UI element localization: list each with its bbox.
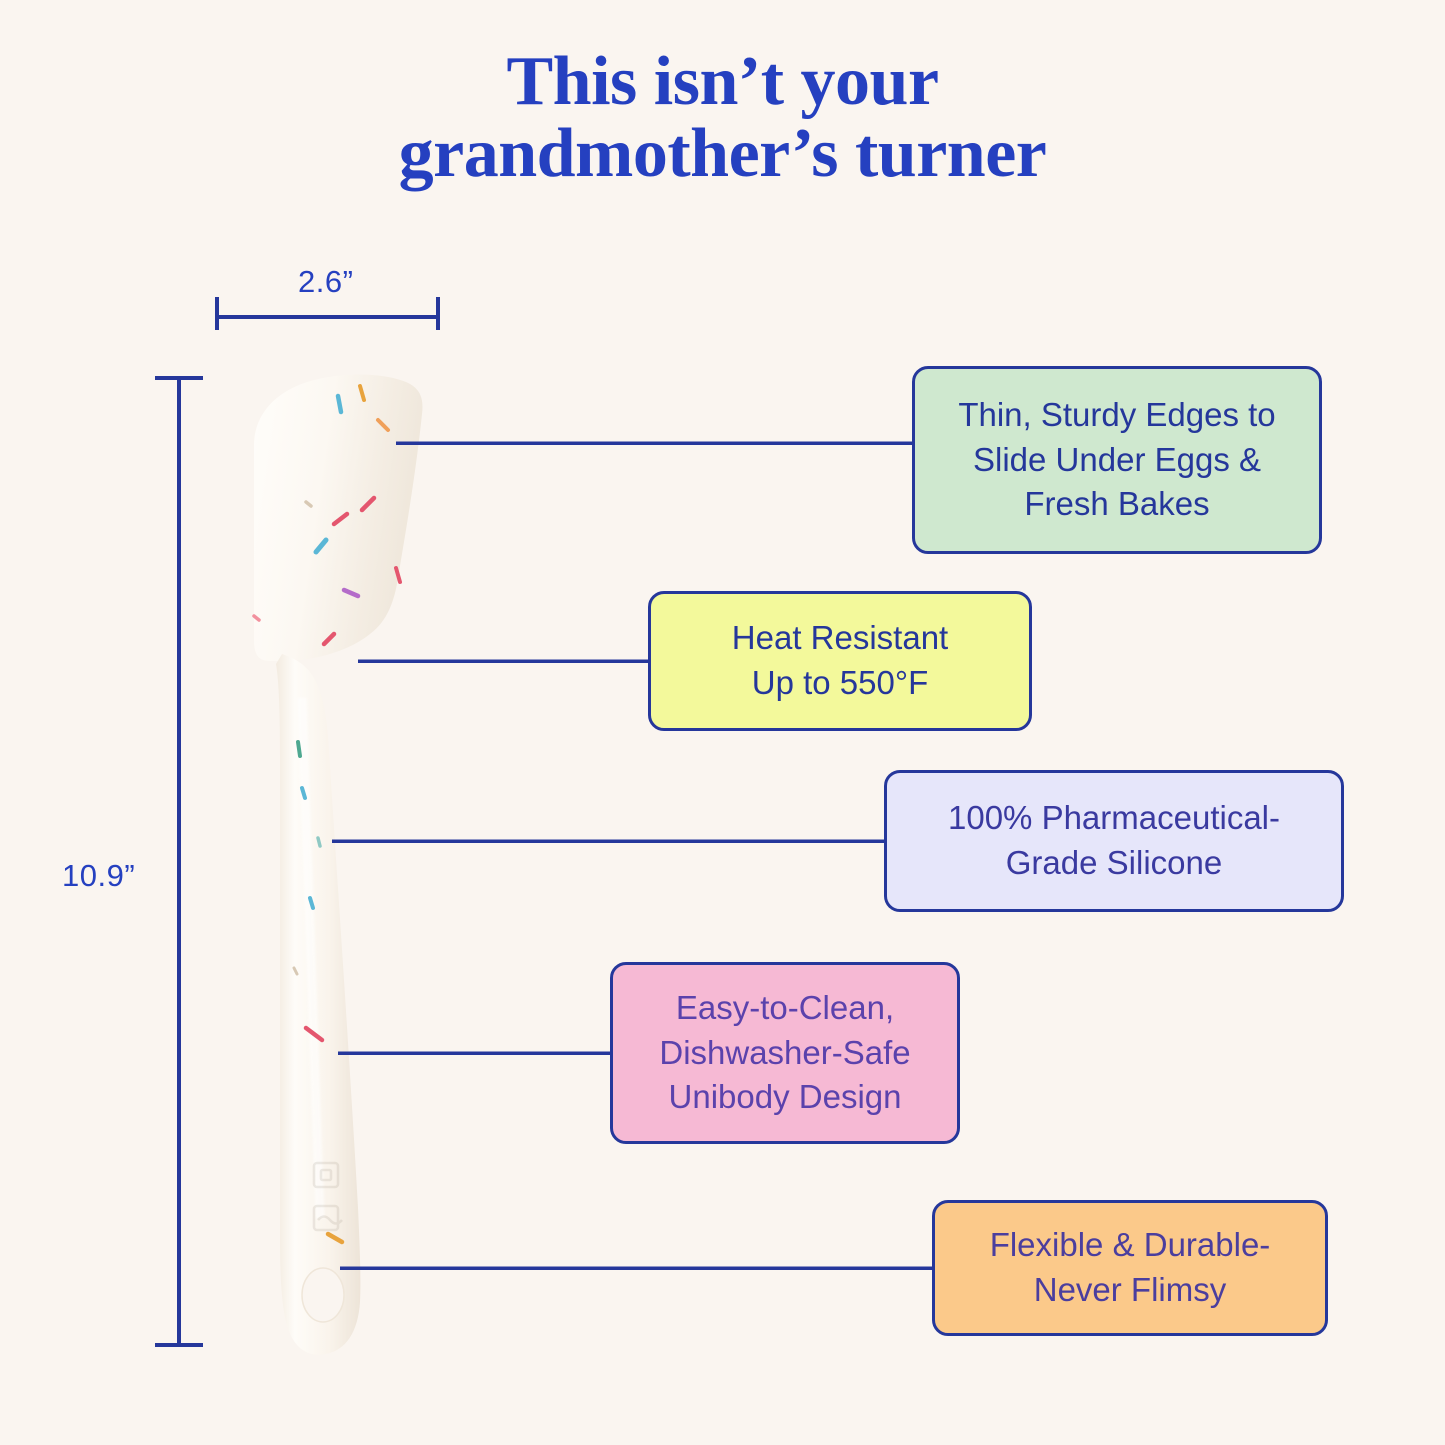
- spatula-blade: [254, 374, 422, 661]
- callout-line: Unibody Design: [659, 1075, 910, 1120]
- callout-line: Grade Silicone: [948, 841, 1280, 886]
- callout-line: Heat Resistant: [732, 616, 948, 661]
- callout-line: Never Flimsy: [990, 1268, 1271, 1313]
- callout-flexible-durable[interactable]: Flexible & Durable- Never Flimsy: [932, 1200, 1328, 1336]
- spatula-body: [254, 374, 422, 1354]
- spatula-illustration: [210, 368, 460, 1368]
- callout-line: Easy-to-Clean,: [659, 986, 910, 1031]
- headline-line-2: grandmother’s turner: [0, 118, 1445, 190]
- callout-line: Flexible & Durable-: [990, 1223, 1271, 1268]
- callout-line: Up to 550°F: [732, 661, 948, 706]
- callout-text: Thin, Sturdy Edges to Slide Under Eggs &…: [958, 393, 1275, 527]
- callout-text: Heat Resistant Up to 550°F: [732, 616, 948, 705]
- callout-text: 100% Pharmaceutical- Grade Silicone: [948, 796, 1280, 885]
- callout-thin-sturdy-edges[interactable]: Thin, Sturdy Edges to Slide Under Eggs &…: [912, 366, 1322, 554]
- callout-line: Slide Under Eggs &: [958, 438, 1275, 483]
- callout-line: Thin, Sturdy Edges to: [958, 393, 1275, 438]
- page-title: This isn’t your grandmother’s turner: [0, 46, 1445, 190]
- headline-line-1: This isn’t your: [0, 46, 1445, 118]
- callout-line: Fresh Bakes: [958, 482, 1275, 527]
- callout-text: Flexible & Durable- Never Flimsy: [990, 1223, 1271, 1312]
- spatula-handle: [276, 654, 360, 1355]
- callout-pharmaceutical-grade-silicone[interactable]: 100% Pharmaceutical- Grade Silicone: [884, 770, 1344, 912]
- height-dimension-label: 10.9”: [62, 858, 135, 894]
- callout-heat-resistant[interactable]: Heat Resistant Up to 550°F: [648, 591, 1032, 731]
- callout-easy-to-clean[interactable]: Easy-to-Clean, Dishwasher-Safe Unibody D…: [610, 962, 960, 1144]
- width-dimension-line: [217, 297, 438, 330]
- infographic-canvas: This isn’t your grandmother’s turner 2.6…: [0, 0, 1445, 1445]
- callout-line: Dishwasher-Safe: [659, 1031, 910, 1076]
- callout-line: 100% Pharmaceutical-: [948, 796, 1280, 841]
- hang-hole: [302, 1268, 344, 1322]
- callout-text: Easy-to-Clean, Dishwasher-Safe Unibody D…: [659, 986, 910, 1120]
- width-dimension-label: 2.6”: [298, 264, 353, 300]
- height-dimension-line: [155, 378, 203, 1345]
